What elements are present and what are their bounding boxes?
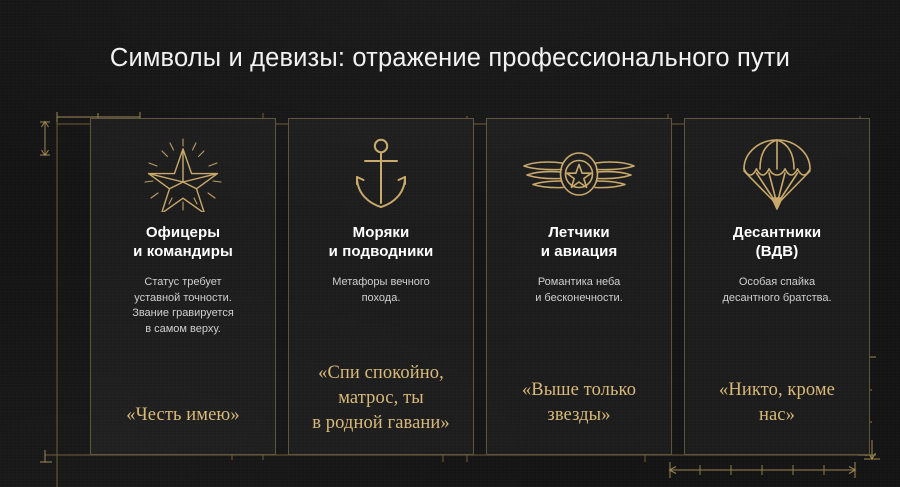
card-quote: «Честь имею» [91, 403, 275, 428]
card-quote: «Выше только звезды» [487, 378, 671, 428]
page-title: Символы и девизы: отражение профессионал… [0, 44, 900, 73]
card-heading-line1: Летчики [487, 223, 671, 242]
card-paratroopers[interactable]: Десантники (ВДВ) Особая спайка десантног… [684, 118, 870, 455]
card-sailors[interactable]: Моряки и подводники Метафоры вечного пох… [288, 118, 474, 455]
card-quote-line1: «Никто, кроме [685, 378, 869, 403]
cards-container: Офицеры и командиры Статус требует устав… [0, 0, 900, 487]
card-quote-line1: «Честь имею» [91, 403, 275, 428]
card-description-line4: в самом верху. [91, 322, 275, 338]
card-description: Метафоры вечного похода. [289, 275, 473, 306]
card-heading-line1: Десантники [685, 223, 869, 242]
card-description: Романтика неба и бесконечности. [487, 275, 671, 306]
parachute-icon [739, 137, 815, 211]
anchor-icon [349, 137, 413, 211]
card-heading-line2: и подводники [289, 242, 473, 261]
card-quote: «Спи спокойно, матрос, ты в родной гаван… [289, 361, 473, 436]
wings-star-icon [521, 137, 637, 211]
card-heading-line1: Моряки [289, 223, 473, 242]
card-description: Статус требует уставной точности. Звание… [91, 275, 275, 337]
card-quote-line3: в родной гавани» [289, 411, 473, 436]
card-heading: Офицеры и командиры [91, 223, 275, 261]
card-quote-line2: матрос, ты [289, 386, 473, 411]
card-description-line2: похода. [289, 291, 473, 307]
card-description-line2: уставной точности. [91, 291, 275, 307]
card-quote-line1: «Выше только [487, 378, 671, 403]
card-quote-line2: нас» [685, 403, 869, 428]
card-quote: «Никто, кроме нас» [685, 378, 869, 428]
card-quote-line1: «Спи спокойно, [289, 361, 473, 386]
card-officers[interactable]: Офицеры и командиры Статус требует устав… [90, 118, 276, 455]
card-pilots[interactable]: Летчики и авиация Романтика неба и беско… [486, 118, 672, 455]
star-icon [143, 137, 223, 211]
card-description-line1: Метафоры вечного [289, 275, 473, 291]
card-heading-line2: и авиация [487, 242, 671, 261]
card-heading-line1: Офицеры [91, 223, 275, 242]
card-quote-line2: звезды» [487, 403, 671, 428]
card-description-line1: Романтика неба [487, 275, 671, 291]
card-heading: Летчики и авиация [487, 223, 671, 261]
card-description: Особая спайка десантного братства. [685, 275, 869, 306]
card-description-line2: и бесконечности. [487, 291, 671, 307]
card-description-line3: Звание гравируется [91, 306, 275, 322]
card-heading-line2: и командиры [91, 242, 275, 261]
card-heading: Моряки и подводники [289, 223, 473, 261]
card-description-line2: десантного братства. [685, 291, 869, 307]
card-heading: Десантники (ВДВ) [685, 223, 869, 261]
card-description-line1: Статус требует [91, 275, 275, 291]
card-description-line1: Особая спайка [685, 275, 869, 291]
card-heading-line2: (ВДВ) [685, 242, 869, 261]
